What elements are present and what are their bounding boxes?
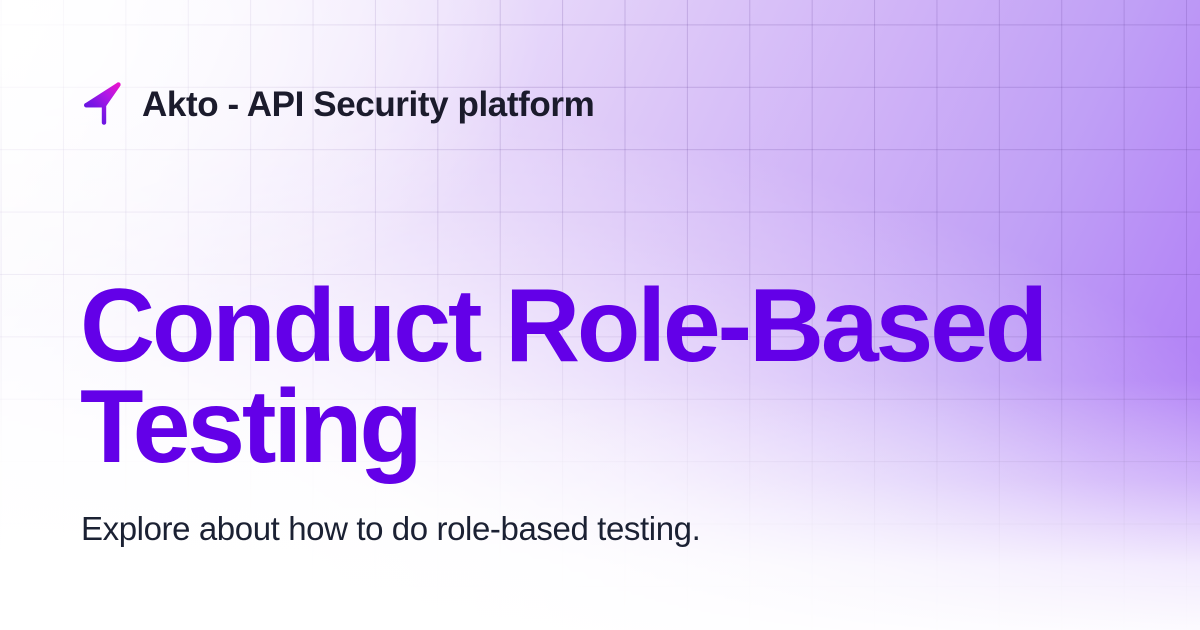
og-share-card: Akto - API Security platform Conduct Rol…: [0, 0, 1200, 630]
page-title: Conduct Role-Based Testing: [80, 276, 1080, 478]
brand-lockup: Akto - API Security platform: [80, 73, 594, 135]
card-content: Akto - API Security platform Conduct Rol…: [0, 0, 1200, 630]
brand-name-label: Akto - API Security platform: [142, 87, 594, 122]
akto-paper-plane-cursor-icon: [80, 81, 124, 127]
page-subtitle: Explore about how to do role-based testi…: [81, 508, 700, 549]
